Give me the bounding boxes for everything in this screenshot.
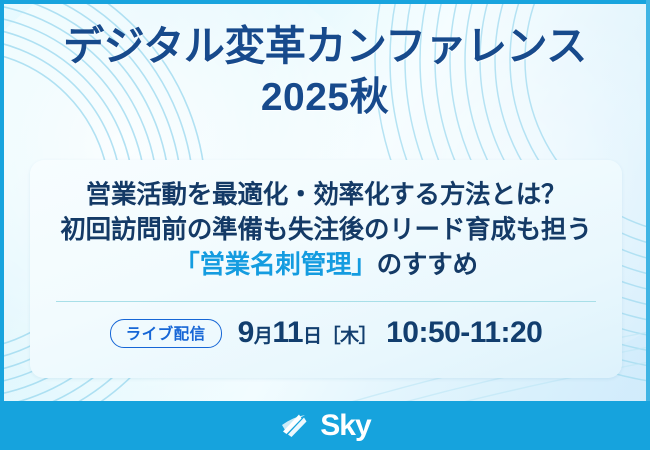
session-description-line1: 営業活動を最適化・効率化する方法とは？ bbox=[30, 178, 622, 213]
session-description-line2: 初回訪問前の準備も失注後のリード育成も担う bbox=[30, 213, 622, 248]
session-description-line3: 「営業名刺管理」のすすめ bbox=[30, 248, 622, 283]
schedule-time-range: 10:50-11:20 bbox=[386, 316, 542, 350]
schedule-datetime: 9月11日［木］10:50-11:20 bbox=[238, 316, 543, 350]
schedule-day-number: 11 bbox=[272, 316, 303, 350]
schedule-weekday: ［木］ bbox=[322, 321, 378, 348]
live-stream-badge: ライブ配信 bbox=[110, 319, 222, 348]
event-title-line1: デジタル変革カンファレンス bbox=[0, 26, 650, 67]
session-card: 営業活動を最適化・効率化する方法とは？ 初回訪問前の準備も失注後のリード育成も担… bbox=[30, 160, 622, 378]
frame-top-border bbox=[0, 0, 650, 4]
card-divider bbox=[56, 301, 596, 302]
sky-logo: Sky bbox=[279, 411, 370, 441]
sky-swoosh-mark bbox=[279, 411, 313, 441]
event-title-line2: 2025秋 bbox=[0, 78, 650, 117]
session-topic-highlight: 「営業名刺管理」 bbox=[174, 251, 376, 279]
schedule-month-number: 9 bbox=[238, 316, 254, 350]
session-description: 営業活動を最適化・効率化する方法とは？ 初回訪問前の準備も失注後のリード育成も担… bbox=[30, 178, 622, 284]
event-title: デジタル変革カンファレンス 2025秋 bbox=[0, 26, 650, 117]
schedule-month-unit: 月 bbox=[254, 321, 273, 348]
schedule-row: ライブ配信 9月11日［木］10:50-11:20 bbox=[30, 316, 622, 350]
schedule-day-unit: 日 bbox=[303, 321, 322, 348]
sky-logo-text: Sky bbox=[320, 411, 370, 441]
session-topic-suffix: のすすめ bbox=[377, 251, 478, 279]
footer-bar: Sky bbox=[0, 401, 650, 450]
webinar-banner: デジタル変革カンファレンス 2025秋 営業活動を最適化・効率化する方法とは？ … bbox=[0, 0, 650, 450]
